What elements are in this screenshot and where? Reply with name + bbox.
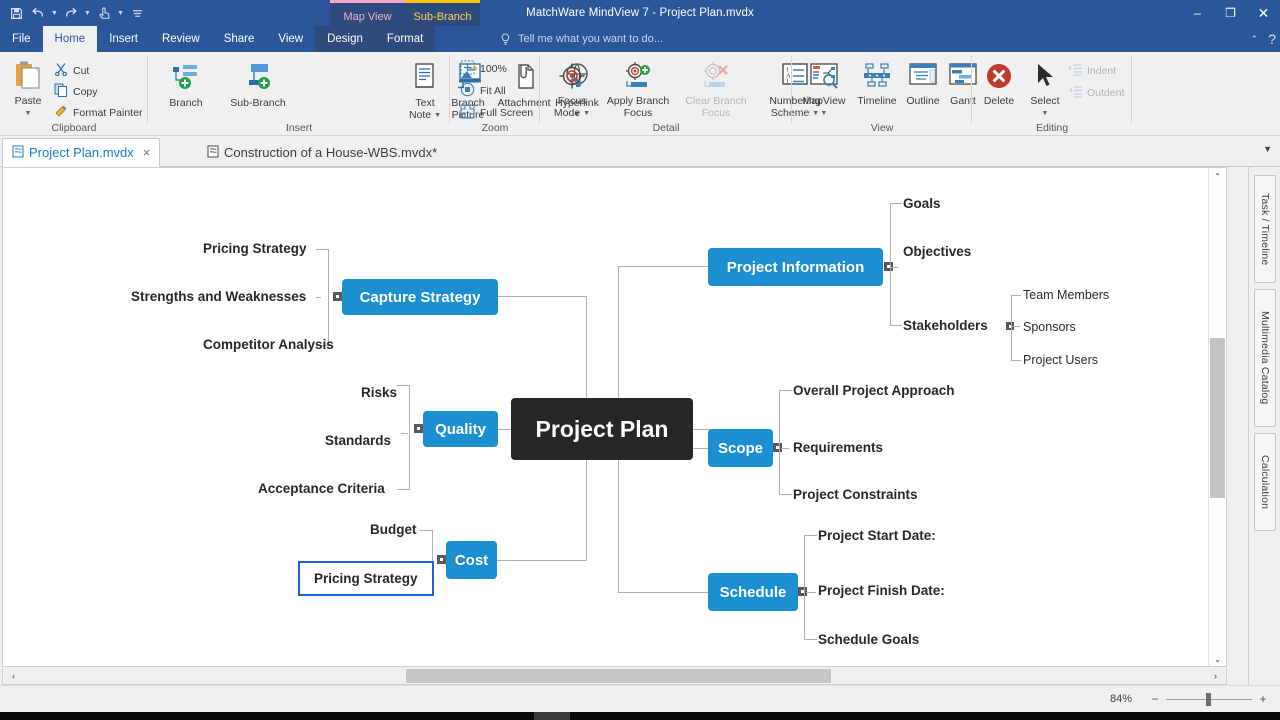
- side-panel-tab-label: Task / Timeline: [1259, 193, 1271, 265]
- ribbon: Paste ▼ Cut Copy Format Painter: [0, 52, 1280, 136]
- mindmap-subnode-project-finish-date[interactable]: Project Finish Date:: [818, 583, 945, 598]
- text-note-icon: [412, 62, 438, 96]
- collapse-toggle-capture-strategy[interactable]: [333, 292, 342, 301]
- document-icon: [12, 145, 24, 161]
- restore-button[interactable]: ❐: [1214, 0, 1247, 26]
- collapse-toggle-cost[interactable]: [437, 555, 446, 564]
- contextual-tab-sub-branch-label: Sub-Branch: [413, 11, 471, 23]
- paste-label: Paste: [15, 96, 42, 108]
- tell-me-placeholder: Tell me what you want to do...: [518, 33, 663, 45]
- zoom-percent-label: 84%: [1110, 693, 1132, 705]
- indent-button: Indent: [1068, 63, 1116, 79]
- connector: [420, 530, 433, 531]
- document-icon: [207, 145, 219, 161]
- branch-label: Capture Strategy: [360, 289, 481, 306]
- view-outline-label: Outline: [906, 96, 939, 108]
- sub-branch-icon: [243, 62, 273, 96]
- clear-branch-focus-icon: [699, 62, 733, 94]
- mindmap-branch-scope[interactable]: Scope: [708, 429, 773, 467]
- mindmap-subnode-overall-project-approach[interactable]: Overall Project Approach: [793, 383, 955, 398]
- clear-branch-focus-button: Clear Branch Focus: [678, 62, 754, 119]
- apply-branch-focus-label2: Focus: [624, 108, 653, 120]
- cut-button[interactable]: Cut: [54, 62, 89, 79]
- branch-label: Schedule: [720, 584, 787, 601]
- apply-branch-focus-button[interactable]: Apply Branch Focus: [600, 62, 676, 119]
- svg-text:i: i: [787, 78, 789, 85]
- full-screen-label: Full Screen: [480, 107, 533, 119]
- mindmap-canvas[interactable]: Project Plan Capture Strategy Pricing St…: [2, 167, 1227, 667]
- ribbon-group-editing: Delete Select ▼ Indent: [972, 52, 1132, 136]
- canvas-vertical-scrollbar[interactable]: ⌃ ⌄: [1208, 168, 1225, 667]
- contextual-tab-map-view-label: Map View: [343, 11, 391, 23]
- mindmap-branch-cost[interactable]: Cost: [446, 541, 497, 579]
- fit-all-label: Fit All: [480, 85, 506, 97]
- zoom-slider-control[interactable]: − +: [1150, 692, 1268, 706]
- collapse-toggle-quality[interactable]: [414, 424, 423, 433]
- text-note-label: Text: [415, 98, 434, 110]
- lightbulb-icon: [500, 33, 511, 46]
- branch-label: Scope: [718, 440, 763, 457]
- branch-label: Quality: [435, 421, 486, 438]
- mindmap-root-node[interactable]: Project Plan: [511, 398, 693, 460]
- mindmap-subnode-pricing-strategy-selected[interactable]: Pricing Strategy: [298, 561, 434, 596]
- ribbon-tabs: File Home Insert Review Share View Desig…: [0, 26, 435, 52]
- timeline-icon: [862, 62, 892, 94]
- view-timeline-label: Timeline: [857, 96, 896, 108]
- mindmap-subnode-strengths-weaknesses[interactable]: Strengths and Weaknesses: [131, 289, 306, 304]
- redo-icon[interactable]: [61, 2, 81, 24]
- contextual-tab-map-view[interactable]: Map View: [330, 0, 405, 26]
- horizontal-scroll-thumb[interactable]: [406, 669, 831, 683]
- indent-label: Indent: [1087, 65, 1116, 77]
- mindmap-subnode-requirements[interactable]: Requirements: [793, 440, 883, 455]
- tab-format[interactable]: Format: [375, 26, 435, 52]
- branch-label: Project Information: [727, 259, 865, 276]
- mindmap-subnode-project-start-date[interactable]: Project Start Date:: [818, 528, 936, 543]
- side-panel-tab-label: Multimedia Catalog: [1259, 311, 1271, 404]
- full-screen-button[interactable]: Full Screen: [460, 104, 533, 122]
- mindmap-subnode-competitor-analysis[interactable]: Competitor Analysis: [203, 337, 334, 352]
- side-panel-tab-strip: Task / Timeline Multimedia Catalog Calcu…: [1248, 167, 1280, 685]
- document-tab-bar: Project Plan.mvdx × Construction of a Ho…: [0, 136, 1280, 167]
- tab-share[interactable]: Share: [212, 26, 267, 52]
- touch-mode-icon[interactable]: [94, 2, 114, 24]
- connector: [1011, 360, 1021, 361]
- touch-mode-dropdown-icon[interactable]: ▼: [116, 2, 125, 24]
- paintbrush-icon: [54, 104, 68, 121]
- connector: [618, 592, 708, 593]
- mapview-icon: [809, 62, 839, 94]
- connector: [781, 448, 789, 449]
- tab-insert[interactable]: Insert: [97, 26, 150, 52]
- focus-mode-dropdown-icon[interactable]: ▼: [583, 110, 590, 117]
- insert-group-label: Insert: [148, 122, 450, 134]
- view-group-label: View: [792, 122, 972, 134]
- indent-icon: [1068, 63, 1082, 79]
- document-tab-overflow-icon[interactable]: ▼: [1263, 144, 1272, 154]
- connector: [1011, 295, 1021, 296]
- close-icon[interactable]: ×: [143, 145, 151, 160]
- ribbon-group-view: MapView ▼ Timeline: [792, 52, 972, 136]
- connector: [890, 267, 898, 268]
- document-tab-project-plan[interactable]: Project Plan.mvdx ×: [2, 138, 160, 167]
- side-panel-tab-multimedia-catalog[interactable]: Multimedia Catalog: [1254, 289, 1276, 427]
- copy-icon: [54, 83, 68, 100]
- delete-button[interactable]: Delete: [978, 62, 1020, 108]
- mindmap-branch-quality[interactable]: Quality: [423, 411, 498, 447]
- clipboard-group-label: Clipboard: [0, 122, 148, 134]
- connector: [890, 203, 891, 325]
- close-button[interactable]: ✕: [1247, 0, 1280, 26]
- apply-branch-focus-label1: Apply Branch: [607, 96, 669, 108]
- tell-me-search[interactable]: Tell me what you want to do...: [500, 26, 663, 52]
- ribbon-group-clipboard: Paste ▼ Cut Copy Format Painter: [0, 52, 148, 136]
- mindview-window: MatchWare MindView 7 - Project Plan.mvdx…: [0, 0, 1280, 720]
- mindmap-branch-project-information[interactable]: Project Information: [708, 248, 883, 286]
- branch-label: Cost: [455, 552, 488, 569]
- mindmap-leaf-team-members[interactable]: Team Members: [1023, 288, 1109, 302]
- caret-up-icon[interactable]: ⌃: [1251, 34, 1259, 45]
- redo-dropdown-icon[interactable]: ▼: [83, 2, 92, 24]
- paste-dropdown-icon[interactable]: ▼: [25, 110, 32, 117]
- view-mapview-button[interactable]: MapView ▼: [796, 62, 852, 117]
- tab-review[interactable]: Review: [150, 26, 212, 52]
- scroll-left-icon[interactable]: ‹: [5, 668, 22, 684]
- mindmap-subnode-objectives[interactable]: Objectives: [903, 244, 971, 259]
- select-label: Select: [1030, 96, 1059, 108]
- view-timeline-button[interactable]: Timeline: [854, 62, 900, 108]
- scroll-down-icon[interactable]: ⌄: [1209, 651, 1226, 667]
- cut-label: Cut: [73, 65, 89, 77]
- delete-label: Delete: [984, 96, 1014, 108]
- mindmap-subnode-stakeholders[interactable]: Stakeholders: [903, 318, 988, 333]
- connector: [806, 592, 816, 593]
- mindmap-branch-schedule[interactable]: Schedule: [708, 573, 798, 611]
- format-painter-label: Format Painter: [73, 107, 142, 119]
- connector: [328, 249, 329, 346]
- view-outline-button[interactable]: Outline: [902, 62, 944, 108]
- focus-target-icon: [558, 62, 586, 94]
- text-note-dropdown-icon[interactable]: ▼: [434, 112, 441, 119]
- vertical-scroll-thumb[interactable]: [1210, 338, 1225, 498]
- connector: [779, 390, 780, 494]
- document-tab-label: Project Plan.mvdx: [29, 145, 134, 160]
- mindmap-leaf-sponsors[interactable]: Sponsors: [1023, 320, 1076, 334]
- mindmap-leaf-project-users[interactable]: Project Users: [1023, 353, 1098, 367]
- connector: [804, 535, 817, 536]
- more-commands-icon[interactable]: [127, 2, 147, 24]
- mindmap-subnode-acceptance-criteria[interactable]: Acceptance Criteria: [258, 481, 385, 496]
- contextual-tab-sub-branch[interactable]: Sub-Branch: [405, 0, 480, 26]
- minimize-button[interactable]: –: [1181, 0, 1214, 26]
- tab-home[interactable]: Home: [43, 26, 98, 52]
- outdent-label: Outdent: [1087, 87, 1124, 99]
- mindmap-subnode-standards[interactable]: Standards: [325, 433, 391, 448]
- focus-mode-button[interactable]: Focus Mode ▼: [548, 62, 596, 119]
- fit-all-icon: [460, 82, 475, 100]
- undo-icon[interactable]: [28, 2, 48, 24]
- connector: [497, 560, 587, 561]
- focus-mode-label1: Focus: [558, 96, 587, 108]
- connector: [498, 296, 587, 297]
- tab-file[interactable]: File: [0, 26, 43, 52]
- side-panel-tab-calculation[interactable]: Calculation: [1254, 433, 1276, 531]
- zoom-slider-track[interactable]: [1166, 699, 1252, 700]
- copy-label: Copy: [73, 86, 98, 98]
- tab-view[interactable]: View: [266, 26, 315, 52]
- fit-all-button[interactable]: Fit All: [460, 82, 506, 100]
- connector: [779, 494, 792, 495]
- contextual-tab-group: Map View Sub-Branch: [330, 0, 480, 26]
- insert-branch-button[interactable]: Branch: [158, 62, 214, 110]
- title-bar: MatchWare MindView 7 - Project Plan.mvdx…: [0, 0, 1280, 26]
- outdent-button: Outdent: [1068, 85, 1124, 101]
- insert-branch-label: Branch: [169, 98, 202, 110]
- mindmap-branch-capture-strategy[interactable]: Capture Strategy: [342, 279, 498, 315]
- document-tab-label: Construction of a House-WBS.mvdx*: [224, 145, 437, 160]
- zoom-100-button[interactable]: 100%: [460, 60, 507, 78]
- root-node-label: Project Plan: [536, 416, 669, 443]
- mindmap-subnode-schedule-goals[interactable]: Schedule Goals: [818, 632, 919, 647]
- delete-icon: [985, 62, 1013, 94]
- connector: [401, 433, 408, 434]
- connector: [779, 390, 792, 391]
- connector: [618, 266, 708, 267]
- zoom-100-icon: [460, 60, 475, 78]
- detail-group-label: Detail: [540, 122, 792, 134]
- connector: [804, 535, 805, 639]
- mindmap-subnode-risks[interactable]: Risks: [361, 385, 397, 400]
- connector: [316, 297, 321, 298]
- side-panel-tab-task-timeline[interactable]: Task / Timeline: [1254, 175, 1276, 283]
- ribbon-group-zoom: 100% Fit All Full Screen Zoom: [450, 52, 540, 136]
- scroll-up-icon[interactable]: ⌃: [1209, 168, 1226, 185]
- view-mapview-label: MapView: [803, 96, 846, 108]
- ribbon-group-detail: Focus Mode ▼: [540, 52, 792, 136]
- connector: [1011, 295, 1012, 360]
- connector: [316, 249, 329, 250]
- copy-button[interactable]: Copy: [54, 83, 98, 100]
- connector: [890, 325, 902, 326]
- canvas-horizontal-scrollbar[interactable]: ‹ ›: [2, 668, 1227, 685]
- select-dropdown-icon[interactable]: ▼: [1042, 110, 1049, 117]
- branch-icon: [171, 62, 201, 96]
- zoom-out-button[interactable]: −: [1150, 692, 1160, 706]
- insert-sub-branch-label: Sub-Branch: [230, 98, 285, 110]
- window-title: MatchWare MindView 7 - Project Plan.mvdx: [0, 0, 1280, 26]
- cursor-arrow-icon: [1033, 62, 1057, 94]
- connector: [397, 385, 410, 386]
- taskbar-item[interactable]: [534, 712, 570, 720]
- clear-branch-focus-label1: Clear Branch: [685, 96, 746, 108]
- zoom-slider-thumb[interactable]: [1206, 693, 1211, 706]
- canvas-area: Project Plan Capture Strategy Pricing St…: [0, 167, 1248, 685]
- window-controls: – ❐ ✕: [1181, 0, 1280, 26]
- side-panel-tab-label: Calculation: [1259, 455, 1271, 509]
- os-taskbar: [0, 712, 1280, 720]
- text-note-button[interactable]: Text Note ▼: [404, 62, 446, 121]
- ribbon-group-insert: Branch Sub-Branch: [148, 52, 450, 136]
- mindmap-subnode-pricing-strategy[interactable]: Pricing Strategy: [203, 241, 307, 256]
- connector: [1012, 326, 1020, 327]
- sub-branch-strip: [405, 0, 480, 3]
- apply-branch-focus-icon: [621, 62, 655, 94]
- text-note-label2: Note: [409, 110, 431, 122]
- scroll-right-icon[interactable]: ›: [1207, 668, 1224, 684]
- mindmap-subnode-project-constraints[interactable]: Project Constraints: [793, 487, 918, 502]
- connector: [804, 639, 817, 640]
- connector: [409, 385, 410, 490]
- connector: [397, 489, 410, 490]
- scissors-icon: [54, 62, 68, 79]
- zoom-group-label: Zoom: [450, 122, 540, 134]
- undo-dropdown-icon[interactable]: ▼: [50, 2, 59, 24]
- full-screen-icon: [460, 104, 475, 122]
- help-icon[interactable]: ?: [1268, 31, 1276, 47]
- group-separator: [1131, 56, 1132, 124]
- mindmap-subnode-budget[interactable]: Budget: [370, 522, 417, 537]
- mapview-dropdown-icon[interactable]: ▼: [821, 110, 828, 117]
- zoom-in-button[interactable]: +: [1258, 692, 1268, 706]
- select-button[interactable]: Select ▼: [1024, 62, 1066, 117]
- ribbon-tab-row: File Home Insert Review Share View Desig…: [0, 26, 1280, 52]
- quick-access-toolbar: ▼ ▼ ▼: [6, 0, 147, 26]
- save-icon[interactable]: [6, 2, 26, 24]
- editing-group-label: Editing: [972, 122, 1132, 134]
- paste-icon: [14, 60, 42, 94]
- insert-sub-branch-button[interactable]: Sub-Branch: [218, 62, 298, 110]
- zoom-100-label: 100%: [480, 63, 507, 75]
- focus-mode-label2: Mode: [554, 108, 580, 120]
- outline-icon: [908, 62, 938, 94]
- format-painter-button[interactable]: Format Painter: [54, 104, 142, 121]
- document-tab-construction-house-wbs[interactable]: Construction of a House-WBS.mvdx*: [198, 138, 446, 167]
- paste-button[interactable]: Paste ▼: [6, 60, 50, 117]
- tab-design[interactable]: Design: [315, 26, 375, 52]
- ribbon-right-controls: ⌃ ?: [1251, 26, 1276, 52]
- status-bar: 84% − +: [0, 685, 1280, 712]
- clear-branch-focus-label2: Focus: [702, 108, 731, 120]
- connector: [890, 203, 902, 204]
- mindmap-subnode-goals[interactable]: Goals: [903, 196, 941, 211]
- outdent-icon: [1068, 85, 1082, 101]
- map-view-strip: [330, 0, 405, 3]
